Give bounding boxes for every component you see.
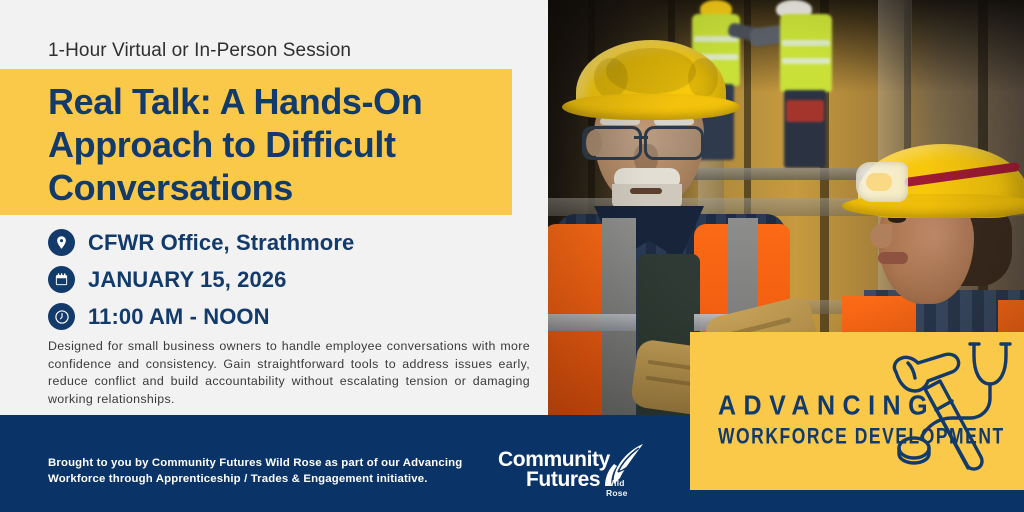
description-paragraph: Designed for small business owners to ha… <box>48 338 530 408</box>
session-kicker: 1-Hour Virtual or In-Person Session <box>48 40 351 62</box>
calendar-icon <box>48 266 75 293</box>
feather-quill-icon <box>594 442 648 499</box>
advancing-workforce-badge: ADVANCING WORKFORCE DEVELOPMENT <box>690 332 1024 490</box>
headlamp-icon <box>856 162 908 202</box>
event-details-list: CFWR Office, Strathmore JANUARY 15, 2026 <box>48 226 518 337</box>
safety-glasses <box>582 126 710 156</box>
footer-attribution-text: Brought to you by Community Futures Wild… <box>48 455 478 487</box>
detail-date-text: JANUARY 15, 2026 <box>88 267 286 293</box>
detail-row-location: CFWR Office, Strathmore <box>48 226 518 259</box>
clock-icon <box>48 303 75 330</box>
detail-row-date: JANUARY 15, 2026 <box>48 263 518 296</box>
detail-location-text: CFWR Office, Strathmore <box>88 230 354 256</box>
hammer-and-stethoscope-icon <box>878 336 1024 491</box>
logo-line-futures: Futures <box>526 468 600 492</box>
page-title: Real Talk: A Hands-On Approach to Diffic… <box>48 80 518 209</box>
event-promo-poster: 1-Hour Virtual or In-Person Session Real… <box>0 0 1024 512</box>
detail-row-time: 11:00 AM - NOON <box>48 300 518 333</box>
detail-time-text: 11:00 AM - NOON <box>88 304 270 330</box>
community-futures-logo: Community Futures Wild Rose <box>498 446 648 498</box>
location-pin-icon <box>48 229 75 256</box>
yellow-hardhat <box>576 40 726 118</box>
